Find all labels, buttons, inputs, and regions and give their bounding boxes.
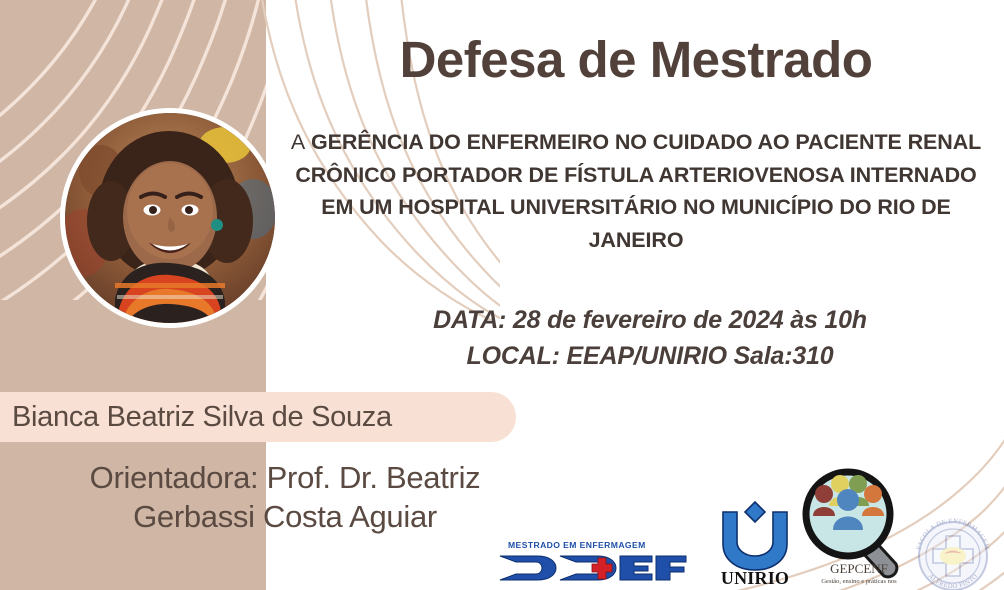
gepcenf-logo: GEPCENF Gestão, ensino e práticas nos: [800, 448, 918, 588]
defense-announcement-poster: Defesa de Mestrado A GERÊNCIA DO ENFERME…: [0, 0, 1004, 590]
unirio-logo: UNIRIO: [707, 498, 803, 586]
gepcenf-tagline-text: Gestão, ensino e práticas nos: [821, 578, 897, 585]
ppgenf-logo: MESTRADO EM ENFERMAGEM: [494, 536, 688, 584]
advisor-line-2: Gerbassi Costa Aguiar: [20, 497, 550, 536]
unirio-wordmark-text: UNIRIO: [721, 568, 789, 586]
ppgenf-logo-graphic: MESTRADO EM ENFERMAGEM: [494, 536, 688, 584]
thesis-title: A GERÊNCIA DO ENFERMEIRO NO CUIDADO AO P…: [278, 126, 994, 257]
poster-title: Defesa de Mestrado: [268, 32, 1004, 87]
advisor-line-1: Orientadora: Prof. Dr. Beatriz: [20, 458, 550, 497]
ppgenf-tagline-text: MESTRADO EM ENFERMAGEM: [508, 540, 646, 550]
gepcenf-logo-graphic: GEPCENF Gestão, ensino e práticas nos: [800, 448, 918, 588]
event-details: DATA: 28 de fevereiro de 2024 às 10h LOC…: [300, 303, 1000, 374]
advisor-block: Orientadora: Prof. Dr. Beatriz Gerbassi …: [20, 458, 550, 536]
gepcenf-acronym-text: GEPCENF: [830, 561, 888, 576]
eeap-seal-logo: ESCOLA DE ENFERMAGEM ALFREDO PINTO: [910, 516, 996, 590]
portrait-image: [65, 113, 275, 323]
event-location: LOCAL: EEAP/UNIRIO Sala:310: [300, 339, 1000, 375]
student-name: Bianca Beatriz Silva de Souza: [12, 401, 392, 434]
event-date: DATA: 28 de fevereiro de 2024 às 10h: [300, 303, 1000, 339]
eeap-seal-graphic: ESCOLA DE ENFERMAGEM ALFREDO PINTO: [910, 516, 996, 590]
student-name-badge: Bianca Beatriz Silva de Souza: [0, 392, 516, 442]
unirio-logo-graphic: UNIRIO: [707, 498, 803, 586]
thesis-title-body: GERÊNCIA DO ENFERMEIRO NO CUIDADO AO PAC…: [295, 130, 981, 252]
thesis-title-lead: A: [291, 130, 305, 154]
speaker-portrait-photo: [60, 108, 280, 328]
